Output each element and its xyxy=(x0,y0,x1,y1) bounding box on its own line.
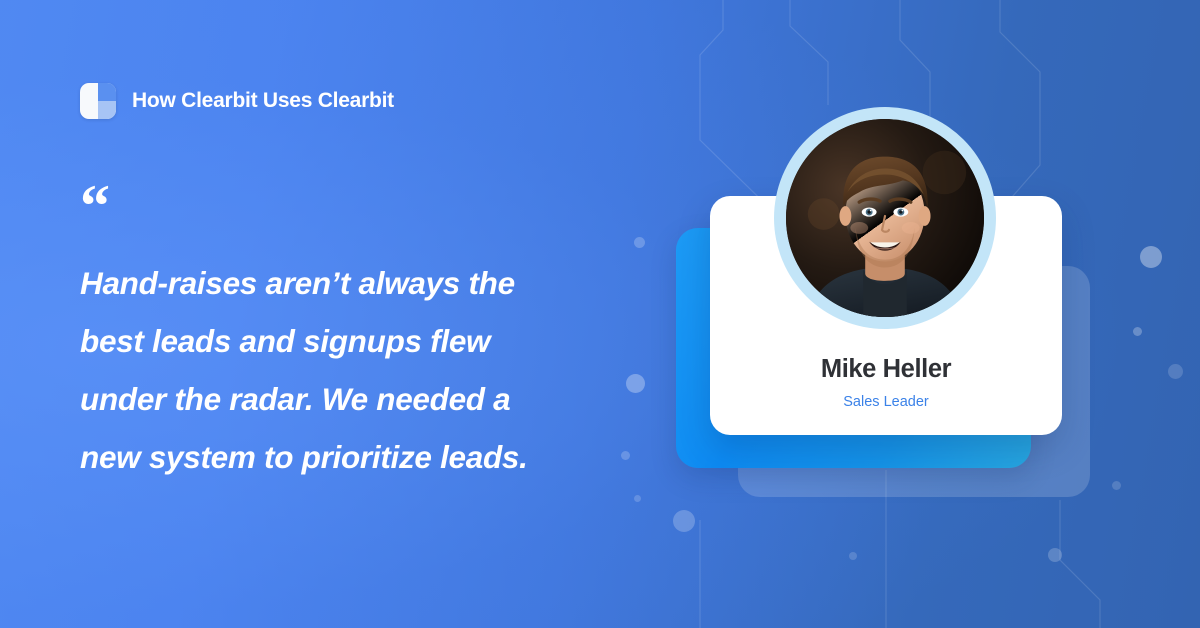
promo-banner: How Clearbit Uses Clearbit “ Hand-raises… xyxy=(0,0,1200,628)
dot xyxy=(673,510,695,532)
dot xyxy=(1133,327,1142,336)
avatar xyxy=(774,107,996,329)
dot xyxy=(1168,364,1183,379)
quote-line: new system to prioritize leads. xyxy=(80,428,640,486)
quote-text: Hand-raises aren’t always the best leads… xyxy=(80,254,640,486)
dot xyxy=(849,552,857,560)
dot xyxy=(1048,548,1062,562)
avatar-photo xyxy=(786,119,984,317)
quote-line: Hand-raises aren’t always the xyxy=(80,254,640,312)
quote-line: under the radar. We needed a xyxy=(80,370,640,428)
quote-mark-icon: “ xyxy=(80,188,640,230)
dot xyxy=(1112,481,1121,490)
logo-quadrant-top-right xyxy=(98,83,116,101)
person-name: Mike Heller xyxy=(821,357,951,383)
dot xyxy=(634,495,641,502)
logo-quadrant-bottom-right xyxy=(98,101,116,119)
dot xyxy=(1140,246,1162,268)
brand-header: How Clearbit Uses Clearbit xyxy=(80,83,394,119)
person-role: Sales Leader xyxy=(843,395,928,410)
quote-block: “ Hand-raises aren’t always the best lea… xyxy=(80,188,640,486)
quote-line: best leads and signups flew xyxy=(80,312,640,370)
clearbit-logo-icon xyxy=(80,83,116,119)
page-title: How Clearbit Uses Clearbit xyxy=(132,89,394,113)
